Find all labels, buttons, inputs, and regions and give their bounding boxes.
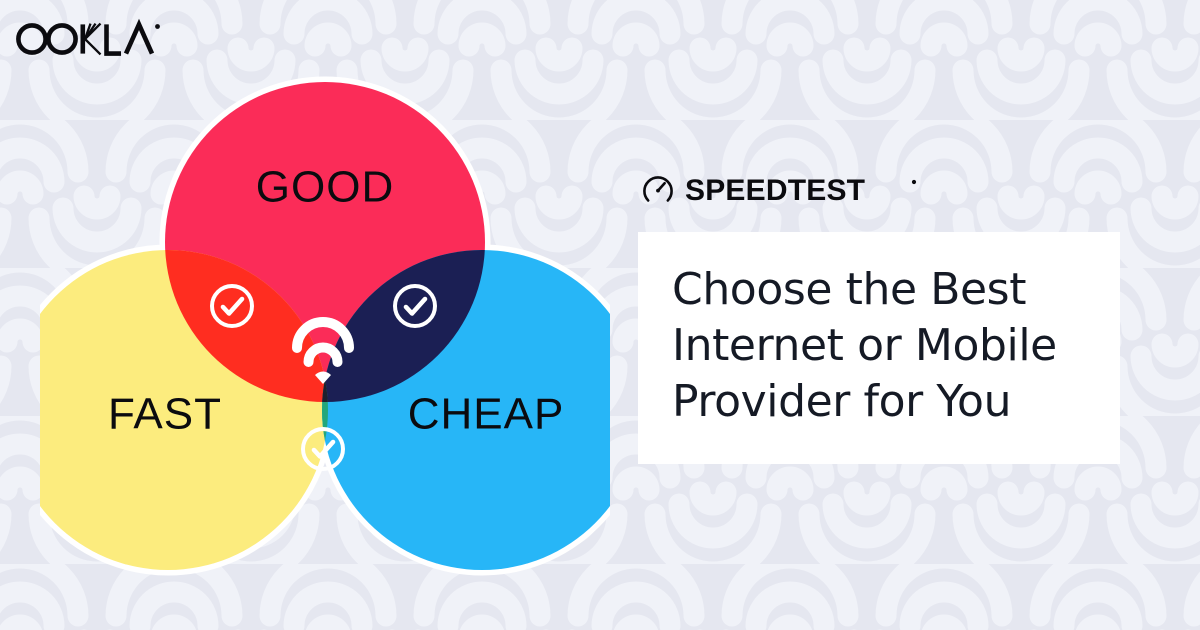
speedtest-wordmark: SPEEDTEST [685, 174, 865, 207]
venn-label-cheap: CHEAP [408, 390, 565, 439]
venn-label-good: GOOD [256, 163, 394, 212]
right-content-column: SPEEDTEST Choose the Best Internet or Mo… [638, 170, 1120, 464]
ookla-logo [14, 14, 162, 62]
speedtest-logo: SPEEDTEST [638, 170, 1120, 210]
venn-diagram: GOOD FAST CHEAP [40, 60, 610, 600]
page-title: Choose the Best Internet or Mobile Provi… [672, 262, 1086, 430]
speedometer-icon [644, 177, 671, 200]
headline-card: Choose the Best Internet or Mobile Provi… [638, 232, 1120, 464]
registered-trademark-icon [155, 24, 160, 29]
venn-label-fast: FAST [108, 390, 222, 439]
registered-trademark-icon [912, 180, 916, 184]
promo-banner: GOOD FAST CHEAP [0, 0, 1200, 630]
